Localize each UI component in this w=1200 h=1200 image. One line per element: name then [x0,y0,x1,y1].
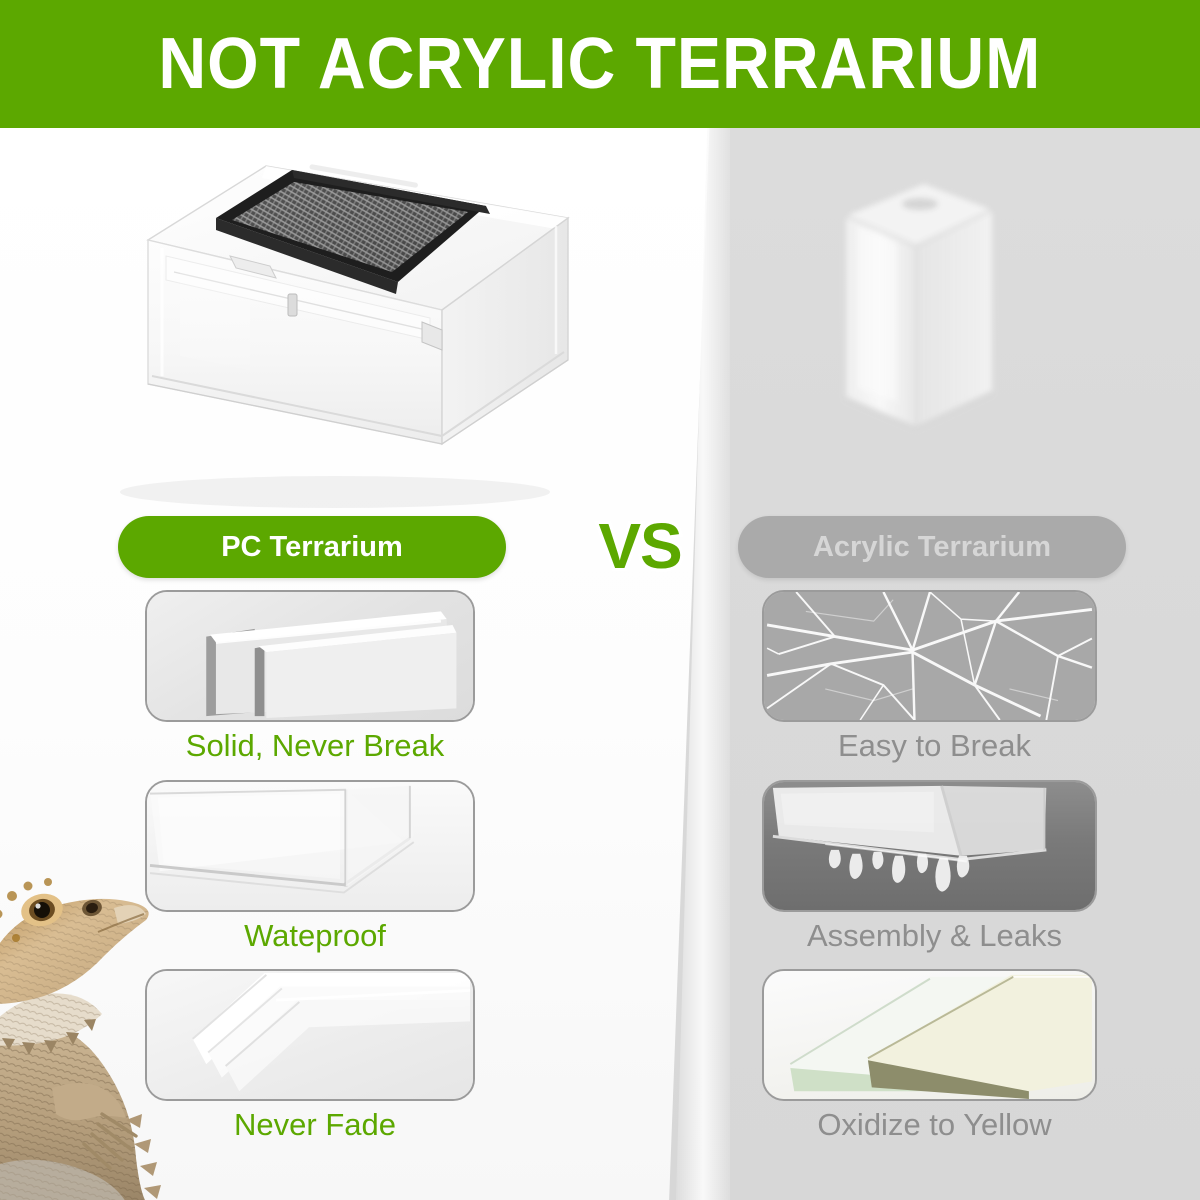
page-title: NOT ACRYLIC TERRARIUM [159,28,1042,100]
feature-label: Oxidize to Yellow [762,1107,1107,1143]
feature-never-fade: Never Fade [145,969,525,1143]
pc-terrarium-badge[interactable]: PC Terrarium [118,516,506,578]
acrylic-feature-column: Easy to Break [762,590,1142,1159]
feature-oxidize-to-yellow: Oxidize to Yellow [762,969,1142,1143]
acrylic-terrarium-badge-label: Acrylic Terrarium [813,533,1051,562]
feature-label: Easy to Break [762,728,1107,764]
bearded-dragon-photo [0,852,196,1200]
feature-assembly-leaks: Assembly & Leaks [762,780,1142,954]
header-banner: NOT ACRYLIC TERRARIUM [0,0,1200,128]
cracked-glass-icon [762,590,1097,722]
feature-label: Never Fade [145,1107,485,1143]
feature-label: Wateproof [145,918,485,954]
feature-label: Assembly & Leaks [762,918,1107,954]
yellowed-sheet-icon [762,969,1097,1101]
comparison-stage: PC Terrarium VS Acrylic Terrarium [0,128,1200,1200]
feature-waterproof: Wateproof [145,780,525,954]
feature-label: Solid, Never Break [145,728,485,764]
comparison-badge-row: PC Terrarium VS Acrylic Terrarium [0,510,1200,600]
infographic-page: NOT ACRYLIC TERRARIUM [0,0,1200,1200]
acrylic-terrarium-badge[interactable]: Acrylic Terrarium [738,516,1126,578]
vs-label: VS [575,506,705,586]
leaking-seam-icon [762,780,1097,912]
pc-feature-column: Solid, Never Break Wat [145,590,525,1159]
acrylic-tank-hero-image [828,170,1008,460]
pc-terrarium-hero-image [70,144,590,524]
pc-terrarium-badge-label: PC Terrarium [221,533,403,562]
pc-sheets-icon [145,590,475,722]
feature-easy-to-break: Easy to Break [762,590,1142,764]
feature-solid-never-break: Solid, Never Break [145,590,525,764]
